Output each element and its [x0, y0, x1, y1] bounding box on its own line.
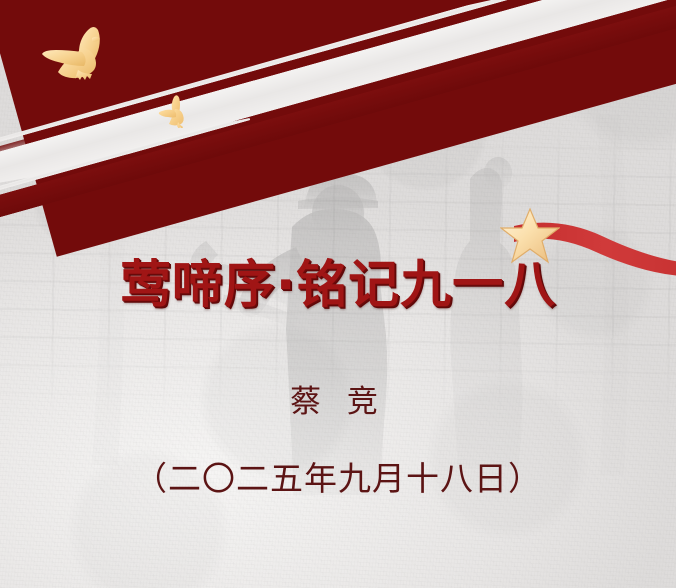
poster-author: 蔡 竞 [290, 376, 386, 421]
poster-date: （二〇二五年九月十八日） [134, 452, 542, 500]
text-block: 莺啼序·铭记九一八 蔡 竞 （二〇二五年九月十八日） [0, 0, 676, 588]
poster-title: 莺啼序·铭记九一八 [120, 258, 556, 314]
poster-canvas: 莺啼序·铭记九一八 蔡 竞 （二〇二五年九月十八日） [0, 0, 676, 588]
